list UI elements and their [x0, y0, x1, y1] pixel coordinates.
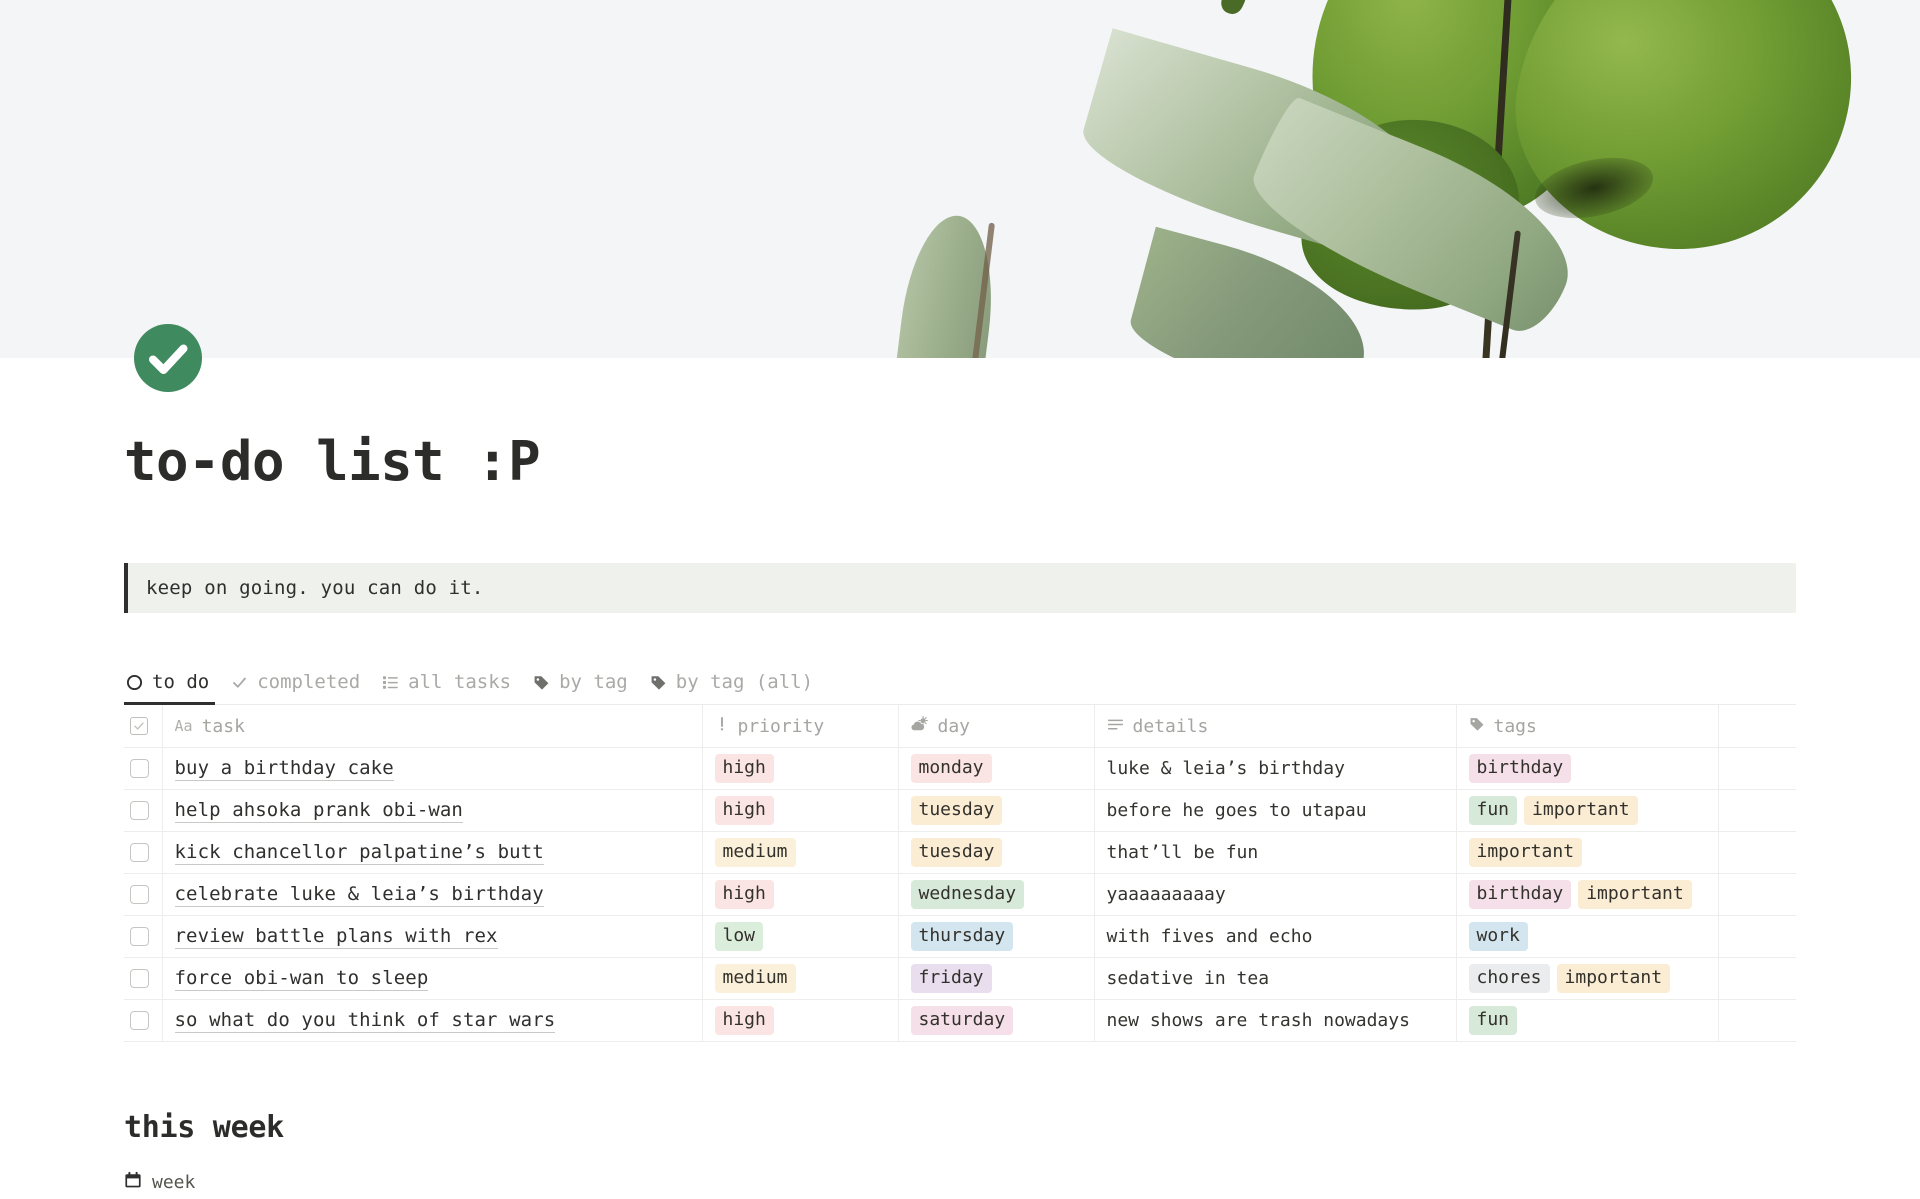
- day-pill: thursday: [911, 922, 1014, 951]
- row-checkbox-cell[interactable]: [124, 999, 162, 1041]
- row-checkbox-cell[interactable]: [124, 831, 162, 873]
- column-label: task: [202, 716, 245, 737]
- checkbox-icon[interactable]: [130, 1011, 149, 1030]
- priority-cell[interactable]: medium: [702, 831, 898, 873]
- column-label: tags: [1494, 716, 1537, 737]
- priority-pill: high: [715, 796, 774, 825]
- view-label: week: [152, 1172, 195, 1193]
- row-empty-cell: [1718, 957, 1796, 999]
- day-pill: friday: [911, 964, 992, 993]
- details-cell[interactable]: before he goes to utapau: [1094, 789, 1456, 831]
- row-checkbox-cell[interactable]: [124, 873, 162, 915]
- task-link[interactable]: kick chancellor palpatine’s butt: [175, 841, 544, 865]
- table-row: kick chancellor palpatine’s buttmediumtu…: [124, 831, 1796, 873]
- details-cell[interactable]: with fives and echo: [1094, 915, 1456, 957]
- row-checkbox-cell[interactable]: [124, 747, 162, 789]
- section-heading-this-week: this week: [124, 1110, 1796, 1145]
- tab-label: by tag: [559, 671, 628, 693]
- page-body: to-do list :P keep on going. you can do …: [0, 432, 1920, 1199]
- task-cell[interactable]: so what do you think of star wars: [162, 999, 702, 1041]
- tab-label: to do: [152, 671, 209, 693]
- day-cell[interactable]: thursday: [898, 915, 1094, 957]
- tab-by-tag[interactable]: by tag: [527, 667, 644, 704]
- task-link[interactable]: buy a birthday cake: [175, 757, 394, 781]
- task-link[interactable]: celebrate luke & leia’s birthday: [175, 883, 544, 907]
- task-cell[interactable]: review battle plans with rex: [162, 915, 702, 957]
- checkbox-icon[interactable]: [130, 927, 149, 946]
- priority-cell[interactable]: medium: [702, 957, 898, 999]
- priority-cell[interactable]: high: [702, 789, 898, 831]
- row-empty-cell: [1718, 999, 1796, 1041]
- tag-pill: birthday: [1469, 754, 1572, 783]
- table-row: celebrate luke & leia’s birthdayhighwedn…: [124, 873, 1796, 915]
- checkbox-icon[interactable]: [130, 885, 149, 904]
- details-cell[interactable]: new shows are trash nowadays: [1094, 999, 1456, 1041]
- database-view-tabs: to do completed: [124, 667, 1796, 705]
- priority-pill: medium: [715, 838, 796, 867]
- cover-photo-plant: [0, 0, 1920, 358]
- row-empty-cell: [1718, 747, 1796, 789]
- tag-pill: important: [1524, 796, 1638, 825]
- page-icon-check-circle[interactable]: [134, 324, 202, 392]
- column-header-add[interactable]: [1718, 705, 1796, 747]
- tag-pill: birthday: [1469, 880, 1572, 909]
- details-text: luke & leia’s birthday: [1107, 758, 1345, 779]
- tab-label: by tag (all): [676, 671, 813, 693]
- task-cell[interactable]: force obi-wan to sleep: [162, 957, 702, 999]
- priority-cell[interactable]: high: [702, 873, 898, 915]
- column-header-tags[interactable]: tags: [1456, 705, 1718, 747]
- quote-text: keep on going. you can do it.: [146, 577, 1796, 599]
- column-header-select-all[interactable]: [124, 705, 162, 747]
- table-row: review battle plans with rexlowthursdayw…: [124, 915, 1796, 957]
- priority-pill: low: [715, 922, 764, 951]
- tags-cell[interactable]: birthday: [1456, 747, 1718, 789]
- priority-cell[interactable]: high: [702, 999, 898, 1041]
- exclamation-icon: [715, 716, 729, 737]
- checkbox-icon[interactable]: [130, 759, 149, 778]
- priority-pill: high: [715, 754, 774, 783]
- day-cell[interactable]: tuesday: [898, 831, 1094, 873]
- details-cell[interactable]: yaaaaaaaaay: [1094, 873, 1456, 915]
- row-empty-cell: [1718, 915, 1796, 957]
- priority-pill: high: [715, 880, 774, 909]
- tab-label: all tasks: [408, 671, 511, 693]
- weather-sun-cloud-icon: [911, 716, 929, 737]
- row-checkbox-cell[interactable]: [124, 957, 162, 999]
- checkbox-icon: [130, 717, 148, 735]
- priority-pill: high: [715, 1006, 774, 1035]
- tab-all-tasks[interactable]: all tasks: [376, 667, 527, 704]
- day-pill: monday: [911, 754, 992, 783]
- page-cover[interactable]: [0, 0, 1920, 358]
- text-lines-icon: [1107, 716, 1124, 737]
- tags-cell[interactable]: important: [1456, 831, 1718, 873]
- task-cell[interactable]: buy a birthday cake: [162, 747, 702, 789]
- task-link[interactable]: review battle plans with rex: [175, 925, 498, 949]
- checkbox-icon[interactable]: [130, 801, 149, 820]
- row-empty-cell: [1718, 789, 1796, 831]
- day-cell[interactable]: monday: [898, 747, 1094, 789]
- day-cell[interactable]: wednesday: [898, 873, 1094, 915]
- column-label: day: [938, 716, 971, 737]
- tag-icon: [1469, 716, 1485, 737]
- details-cell[interactable]: sedative in tea: [1094, 957, 1456, 999]
- tags-cell[interactable]: fun: [1456, 999, 1718, 1041]
- circle-icon: [126, 674, 143, 691]
- task-cell[interactable]: kick chancellor palpatine’s butt: [162, 831, 702, 873]
- tag-pill: important: [1557, 964, 1671, 993]
- details-text: before he goes to utapau: [1107, 800, 1367, 821]
- tag-icon: [650, 674, 667, 691]
- task-link[interactable]: help ahsoka prank obi-wan: [175, 799, 463, 823]
- tab-completed[interactable]: completed: [225, 667, 376, 704]
- priority-cell[interactable]: low: [702, 915, 898, 957]
- tag-pill: important: [1578, 880, 1692, 909]
- task-link[interactable]: so what do you think of star wars: [175, 1009, 556, 1033]
- checkbox-icon[interactable]: [130, 969, 149, 988]
- tags-cell[interactable]: birthdayimportant: [1456, 873, 1718, 915]
- tab-by-tag-all[interactable]: by tag (all): [644, 667, 829, 704]
- tag-pill: fun: [1469, 1006, 1518, 1035]
- details-text: sedative in tea: [1107, 968, 1270, 989]
- day-pill: saturday: [911, 1006, 1014, 1035]
- tasks-table: Aa task priority: [124, 705, 1796, 1042]
- tag-icon: [533, 674, 550, 691]
- details-cell[interactable]: that’ll be fun: [1094, 831, 1456, 873]
- tags-cell[interactable]: choresimportant: [1456, 957, 1718, 999]
- tag-pill: important: [1469, 838, 1583, 867]
- row-empty-cell: [1718, 873, 1796, 915]
- row-checkbox-cell[interactable]: [124, 789, 162, 831]
- day-pill: wednesday: [911, 880, 1025, 909]
- details-text: with fives and echo: [1107, 926, 1313, 947]
- row-checkbox-cell[interactable]: [124, 915, 162, 957]
- tab-label: completed: [257, 671, 360, 693]
- page-title: to-do list :P: [124, 432, 1796, 491]
- column-label: priority: [738, 716, 825, 737]
- quote-callout[interactable]: keep on going. you can do it.: [124, 563, 1796, 613]
- calendar-icon: [124, 1171, 142, 1194]
- column-header-task[interactable]: Aa task: [162, 705, 702, 747]
- details-text: yaaaaaaaaay: [1107, 884, 1226, 905]
- details-cell[interactable]: luke & leia’s birthday: [1094, 747, 1456, 789]
- priority-cell[interactable]: high: [702, 747, 898, 789]
- table-row: help ahsoka prank obi-wanhightuesdaybefo…: [124, 789, 1796, 831]
- day-cell[interactable]: saturday: [898, 999, 1094, 1041]
- tag-pill: chores: [1469, 964, 1550, 993]
- table-body: buy a birthday cakehighmondayluke & leia…: [124, 747, 1796, 1041]
- tab-to-do[interactable]: to do: [124, 667, 225, 704]
- day-pill: tuesday: [911, 838, 1003, 867]
- table-header-row: Aa task priority: [124, 705, 1796, 747]
- table-row: so what do you think of star warshighsat…: [124, 999, 1796, 1041]
- row-empty-cell: [1718, 831, 1796, 873]
- calendar-view-selector[interactable]: week: [124, 1171, 1796, 1199]
- aa-text-icon: Aa: [175, 717, 193, 735]
- notion-page: to-do list :P keep on going. you can do …: [0, 0, 1920, 1199]
- table-row: force obi-wan to sleepmediumfridaysedati…: [124, 957, 1796, 999]
- task-cell[interactable]: celebrate luke & leia’s birthday: [162, 873, 702, 915]
- details-text: that’ll be fun: [1107, 842, 1259, 863]
- tag-pill: fun: [1469, 796, 1518, 825]
- column-header-day[interactable]: day: [898, 705, 1094, 747]
- checkbox-icon[interactable]: [130, 843, 149, 862]
- day-pill: tuesday: [911, 796, 1003, 825]
- priority-pill: medium: [715, 964, 796, 993]
- column-header-details[interactable]: details: [1094, 705, 1456, 747]
- column-label: details: [1133, 716, 1209, 737]
- task-cell[interactable]: help ahsoka prank obi-wan: [162, 789, 702, 831]
- tags-cell[interactable]: work: [1456, 915, 1718, 957]
- tags-cell[interactable]: funimportant: [1456, 789, 1718, 831]
- table-row: buy a birthday cakehighmondayluke & leia…: [124, 747, 1796, 789]
- column-header-priority[interactable]: priority: [702, 705, 898, 747]
- list-icon: [382, 674, 399, 691]
- task-link[interactable]: force obi-wan to sleep: [175, 967, 429, 991]
- details-text: new shows are trash nowadays: [1107, 1010, 1410, 1031]
- day-cell[interactable]: tuesday: [898, 789, 1094, 831]
- day-cell[interactable]: friday: [898, 957, 1094, 999]
- tag-pill: work: [1469, 922, 1528, 951]
- check-icon: [231, 674, 248, 691]
